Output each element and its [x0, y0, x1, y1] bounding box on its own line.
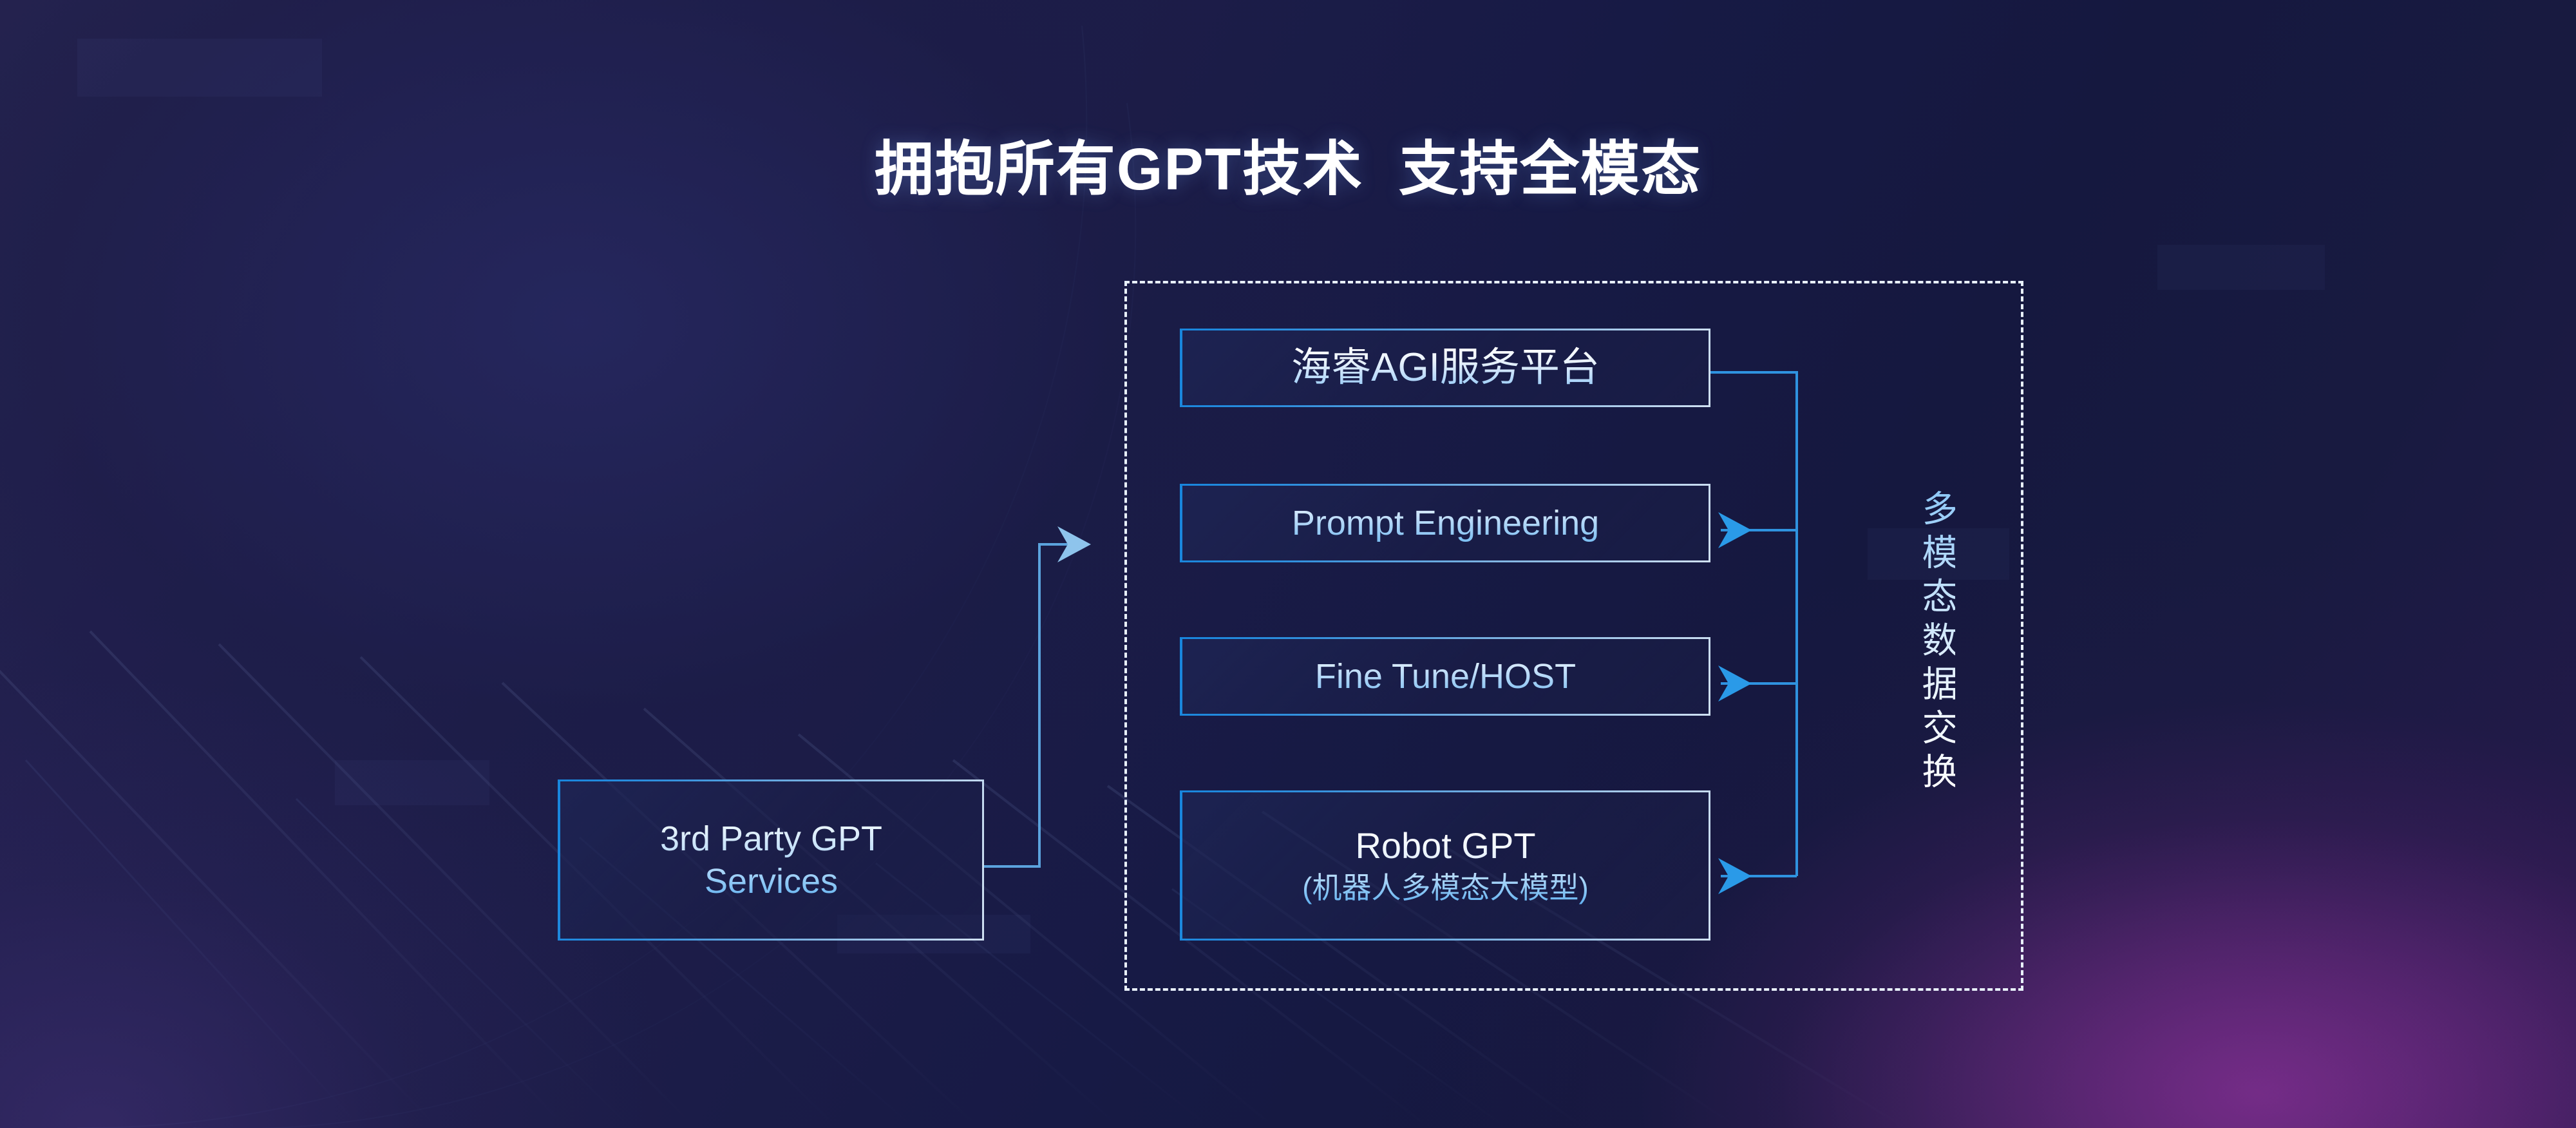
- node-prompt-engineering[interactable]: Prompt Engineering: [1180, 484, 1710, 562]
- node-fine-tune-host[interactable]: Fine Tune/HOST: [1180, 637, 1710, 716]
- connector-thirdparty-to-group: [984, 544, 1088, 866]
- slide-canvas: 拥抱所有GPT技术 支持全模态 海睿AGI服务平台 Prompt Enginee…: [0, 0, 2576, 1128]
- node-agi-platform[interactable]: 海睿AGI服务平台: [1180, 329, 1710, 407]
- node-fine-tune-host-label: Fine Tune/HOST: [1315, 657, 1576, 696]
- node-third-party-gpt[interactable]: 3rd Party GPT Services: [558, 779, 984, 941]
- node-robot-gpt-label: Robot GPT: [1355, 826, 1535, 866]
- page-title: 拥抱所有GPT技术 支持全模态: [0, 121, 2576, 207]
- node-prompt-engineering-label: Prompt Engineering: [1292, 504, 1599, 542]
- data-bus-label: 多模态数据交换: [1910, 490, 1955, 796]
- node-third-party-gpt-label: 3rd Party GPT: [660, 819, 882, 858]
- node-third-party-gpt-sublabel: Services: [705, 862, 838, 901]
- node-robot-gpt-sublabel: (机器人多模态大模型): [1302, 872, 1589, 905]
- node-robot-gpt[interactable]: Robot GPT (机器人多模态大模型): [1180, 790, 1710, 941]
- node-agi-platform-label: 海睿AGI服务平台: [1291, 345, 1600, 390]
